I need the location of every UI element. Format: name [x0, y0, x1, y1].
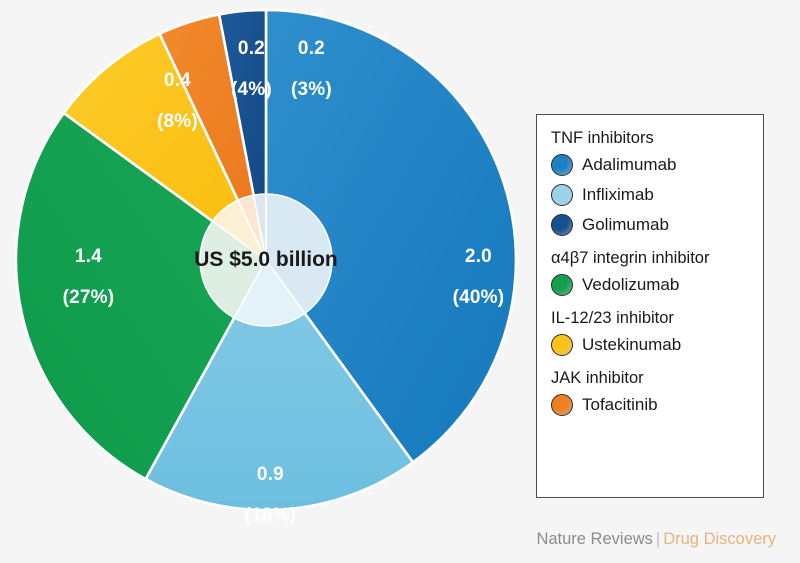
footer-journal: Nature Reviews	[536, 530, 652, 548]
legend-swatch-adalimumab	[551, 154, 573, 176]
legend-item-tofacitinib[interactable]: Tofacitinib	[551, 390, 763, 420]
legend-label-vedolizumab: Vedolizumab	[582, 275, 679, 295]
legend-swatch-tofacitinib	[551, 394, 573, 416]
legend-swatch-vedolizumab	[551, 274, 573, 296]
legend-item-ustekinumab[interactable]: Ustekinumab	[551, 330, 763, 360]
legend-swatch-infliximab	[551, 184, 573, 206]
legend-heading: JAK inhibitor	[551, 369, 763, 388]
legend-label-adalimumab: Adalimumab	[582, 155, 677, 175]
footer-separator: |	[656, 530, 660, 548]
legend-heading: TNF inhibitors	[551, 129, 763, 148]
footer-section: Drug Discovery	[663, 530, 776, 548]
legend-group-il1223: IL-12/23 inhibitor Ustekinumab	[551, 309, 763, 360]
pie-inner-disc	[200, 194, 332, 326]
legend-label-tofacitinib: Tofacitinib	[582, 395, 658, 415]
legend-item-vedolizumab[interactable]: Vedolizumab	[551, 270, 763, 300]
legend-group-jak: JAK inhibitor Tofacitinib	[551, 369, 763, 420]
legend-group-tnf: TNF inhibitors Adalimumab Infliximab Gol…	[551, 129, 763, 240]
legend: TNF inhibitors Adalimumab Infliximab Gol…	[536, 114, 764, 498]
legend-heading: α4β7 integrin inhibitor	[551, 249, 763, 268]
pie-svg	[14, 8, 518, 512]
chart-canvas: 2.0 (40%) 0.9 (18%) 1.4 (27%) 0.4 (8%) 0…	[0, 0, 800, 563]
legend-swatch-golimumab	[551, 214, 573, 236]
legend-label-infliximab: Infliximab	[582, 185, 654, 205]
pie-chart: 2.0 (40%) 0.9 (18%) 1.4 (27%) 0.4 (8%) 0…	[14, 8, 518, 512]
legend-item-golimumab[interactable]: Golimumab	[551, 210, 763, 240]
legend-swatch-ustekinumab	[551, 334, 573, 356]
legend-label-ustekinumab: Ustekinumab	[582, 335, 681, 355]
legend-item-infliximab[interactable]: Infliximab	[551, 180, 763, 210]
legend-label-golimumab: Golimumab	[582, 215, 669, 235]
legend-item-adalimumab[interactable]: Adalimumab	[551, 150, 763, 180]
legend-heading: IL-12/23 inhibitor	[551, 309, 763, 328]
legend-group-integrin: α4β7 integrin inhibitor Vedolizumab	[551, 249, 763, 300]
footer-credit: Nature Reviews|Drug Discovery	[536, 530, 776, 549]
